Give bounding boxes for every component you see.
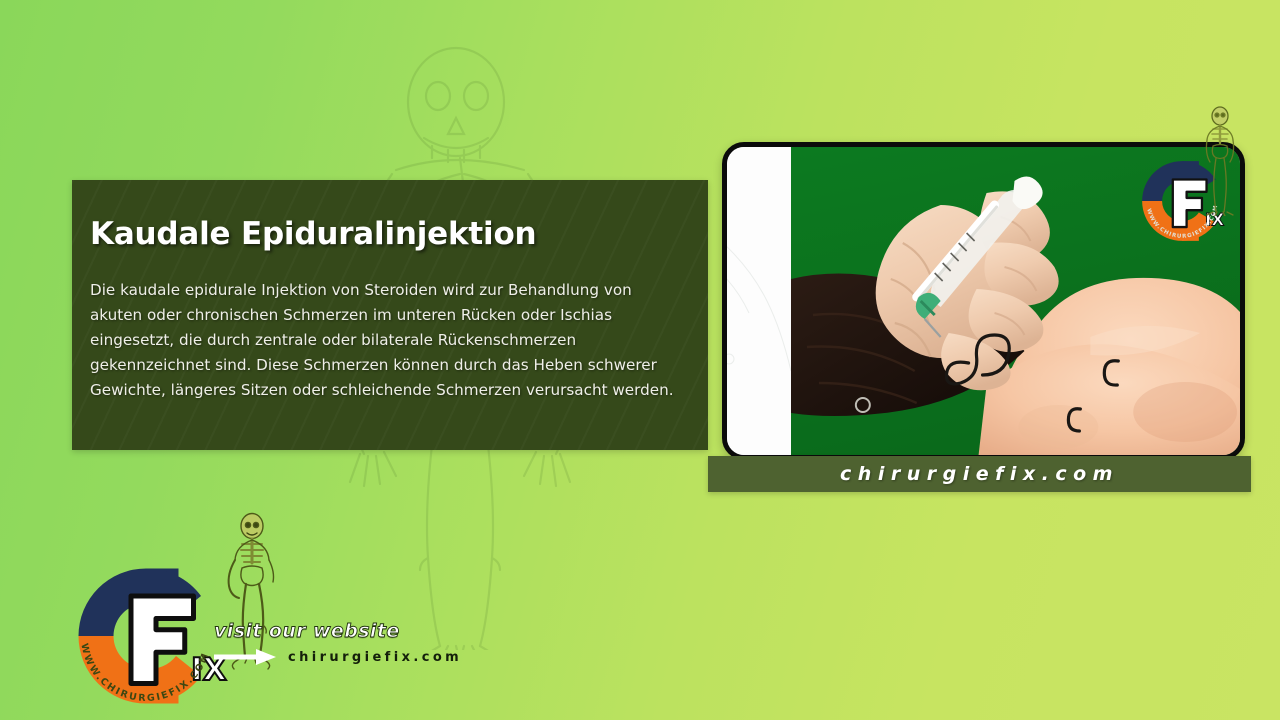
card-white-margin [727,147,793,455]
cta-label: visit our website [214,620,504,642]
procedure-image-card: IX WWW.CHIRURGIEFIX.COM [722,142,1245,460]
cta-url-text[interactable]: chirurgiefix.com [288,650,462,665]
banner-url-text: chirurgiefix.com [840,463,1119,485]
arrow-right-icon [214,648,278,666]
skeleton-accent-icon [1196,104,1244,216]
slide-canvas: Kaudale Epiduralinjektion Die kaudale ep… [0,0,1280,720]
brand-lockup: IX WWW.CHIRURGIEFIX.COM visit our websit… [66,512,496,710]
content-panel: Kaudale Epiduralinjektion Die kaudale ep… [72,180,708,450]
website-banner: chirurgiefix.com [708,456,1251,492]
cta-block: visit our website chirurgiefix.com [214,620,504,666]
body-paragraph: Die kaudale epidurale Injektion von Ster… [90,278,686,403]
page-title: Kaudale Epiduralinjektion [90,216,708,252]
